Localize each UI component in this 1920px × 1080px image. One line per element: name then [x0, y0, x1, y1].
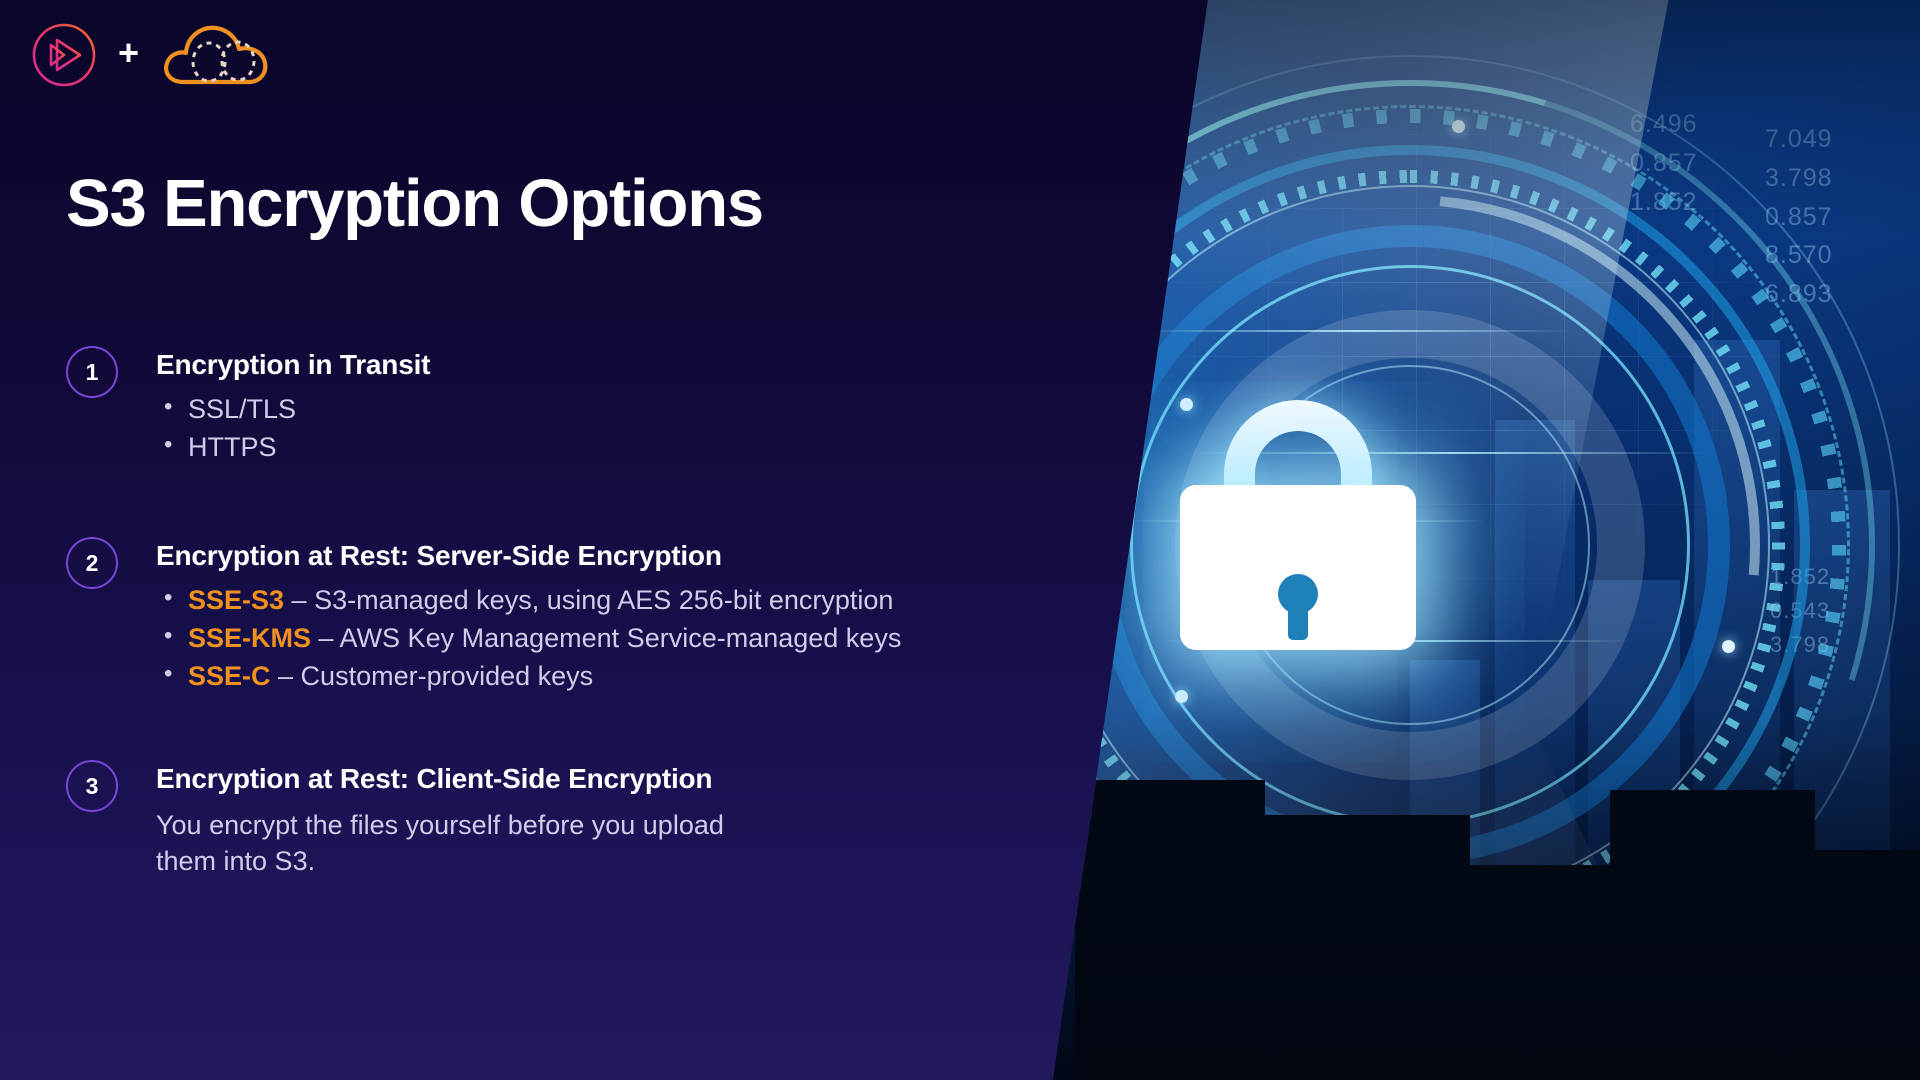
logo-row: + [30, 18, 279, 92]
item-heading: Encryption at Rest: Client-Side Encrypti… [156, 762, 1016, 796]
bullet-key: SSE-S3 [188, 585, 284, 615]
spacer [66, 698, 1016, 762]
play-button-logo [30, 21, 98, 89]
bullet-text: – Customer-provided keys [271, 661, 594, 691]
encryption-options-list: 1 Encryption in Transit SSL/TLS HTTPS 2 … [66, 348, 1016, 880]
item-number-badge: 1 [66, 346, 118, 398]
slide-root: 6.496 0.857 1.852 7.049 3.798 0.857 8.57… [0, 0, 1920, 1080]
item-paragraph: You encrypt the files yourself before yo… [156, 808, 756, 880]
item-heading: Encryption at Rest: Server-Side Encrypti… [156, 539, 1016, 573]
bullet-key: SSE-KMS [188, 623, 311, 653]
bullet-text: – AWS Key Management Service-managed key… [311, 623, 901, 653]
list-item: 1 Encryption in Transit SSL/TLS HTTPS [66, 348, 1016, 469]
bullet-key: SSE-C [188, 661, 271, 691]
list-item: 2 Encryption at Rest: Server-Side Encryp… [66, 539, 1016, 698]
bullet-item: SSE-KMS – AWS Key Management Service-man… [156, 622, 1016, 655]
bullet-item: SSL/TLS [156, 393, 1016, 426]
bullet-item: SSE-C – Customer-provided keys [156, 660, 1016, 693]
aws-cloud-logo [159, 18, 279, 92]
item-bullets: SSL/TLS HTTPS [156, 393, 1016, 464]
page-title: S3 Encryption Options [66, 165, 763, 242]
item-heading: Encryption in Transit [156, 348, 1016, 382]
item-number-badge: 2 [66, 537, 118, 589]
item-bullets: SSE-S3 – S3-managed keys, using AES 256-… [156, 584, 1016, 694]
spacer [66, 469, 1016, 539]
bullet-item: HTTPS [156, 431, 1016, 464]
plus-symbol: + [118, 35, 139, 71]
list-item: 3 Encryption at Rest: Client-Side Encryp… [66, 762, 1016, 879]
item-number-badge: 3 [66, 760, 118, 812]
bullet-text: – S3-managed keys, using AES 256-bit enc… [284, 585, 893, 615]
bullet-item: SSE-S3 – S3-managed keys, using AES 256-… [156, 584, 1016, 617]
